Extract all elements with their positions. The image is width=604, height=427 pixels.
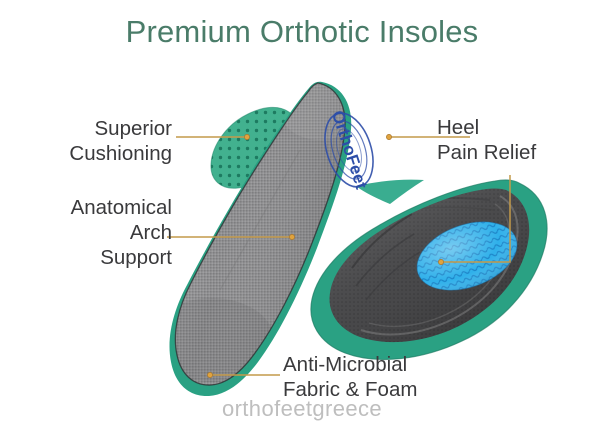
connector-gel-pad xyxy=(441,175,510,262)
dot-heel-pain-relief xyxy=(386,134,391,139)
dot-gel-pad xyxy=(438,259,443,264)
callout-superior-cushioning: Superior Cushioning xyxy=(0,116,172,166)
green-heel-pad xyxy=(211,107,297,188)
gel-heel-pad xyxy=(408,209,527,303)
callout-heel-pain-relief: Heel Pain Relief xyxy=(437,115,604,165)
product-infographic: OrthoFeet Premium Orthotic Insoles Super… xyxy=(0,0,604,427)
insole-top-view: OrthoFeet xyxy=(150,70,383,400)
dot-superior-cushioning xyxy=(244,134,249,139)
callout-anatomical-arch-support: Anatomical Arch Support xyxy=(0,195,172,270)
callout-anti-microbial-fabric-foam: Anti-Microbial Fabric & Foam xyxy=(283,352,583,402)
orthofeet-logo-text: OrthoFeet xyxy=(328,108,371,191)
watermark: orthofeetgreece xyxy=(0,396,604,422)
callout-dots xyxy=(207,134,443,377)
orthofeet-logo: OrthoFeet xyxy=(316,105,383,196)
dot-anti-microbial xyxy=(207,372,212,377)
dot-anatomical-arch-support xyxy=(289,234,294,239)
insole-underside-view xyxy=(311,180,547,360)
callout-connectors xyxy=(167,137,510,375)
page-title: Premium Orthotic Insoles xyxy=(0,14,604,50)
